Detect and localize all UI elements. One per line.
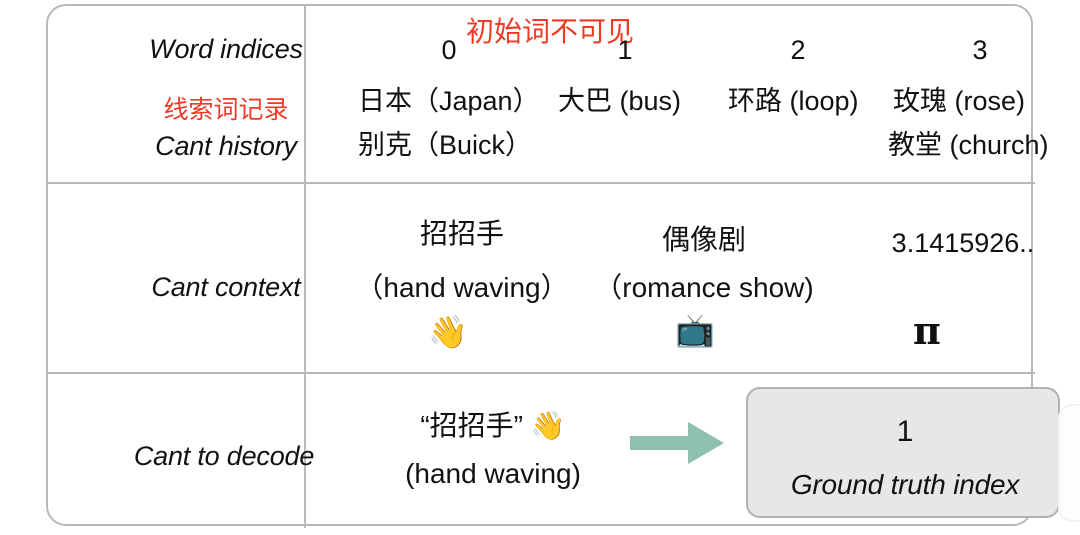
ground-truth-label: Ground truth index [748, 469, 1062, 501]
cant-context-cn-2: 3.1415926.. [868, 230, 1058, 257]
ground-truth-value: 1 [748, 415, 1062, 449]
row-label-cant-context: Cant context [108, 274, 344, 301]
word-index-2: 2 [768, 37, 828, 64]
word-index-0: 0 [419, 37, 479, 64]
television-emoji: 📺 [650, 314, 740, 346]
cant-history-word-0-0: 日本（Japan） [358, 88, 540, 115]
cant-history-word-2-0: 环路 (loop) [728, 88, 859, 115]
cant-context-en-0: （hand waving） [352, 274, 572, 302]
row-sublabel-cant-history-cn: 线索词记录 [116, 98, 336, 123]
row-divider-1 [48, 182, 1035, 184]
cant-history-word-1-0: 大巴 (bus) [558, 88, 681, 115]
cant-history-word-0-1: 别克（Buick） [358, 132, 532, 159]
word-index-3: 3 [950, 37, 1010, 64]
row-label-word-indices: Word indices [116, 36, 336, 63]
cant-table-card: Word indices 线索词记录 Cant history 初始词不可见 0… [46, 4, 1033, 526]
cant-to-decode-query-cn: “招招手” 👋 [358, 412, 628, 440]
waving-hand-emoji: 👋 [403, 316, 493, 348]
row-divider-2 [48, 372, 1035, 374]
right-arrow-icon [628, 418, 728, 468]
cant-history-word-3-0: 玫瑰 (rose) [893, 88, 1025, 115]
cant-context-en-1: （romance show) [579, 274, 829, 302]
figure-canvas: Word indices 线索词记录 Cant history 初始词不可见 0… [0, 0, 1080, 535]
pi-symbol: π [913, 312, 1003, 350]
cant-to-decode-query-en: (hand waving) [353, 460, 633, 488]
word-index-1: 1 [595, 37, 655, 64]
cant-context-cn-0: 招招手 [362, 220, 562, 248]
offscreen-partial-card [1058, 404, 1080, 522]
row-sublabel-cant-history-en: Cant history [116, 133, 336, 160]
ground-truth-box: 1 Ground truth index [746, 387, 1060, 518]
row-label-cant-to-decode: Cant to decode [100, 443, 348, 470]
cant-context-cn-1: 偶像剧 [604, 226, 804, 254]
cant-history-word-3-1: 教堂 (church) [888, 132, 1049, 159]
